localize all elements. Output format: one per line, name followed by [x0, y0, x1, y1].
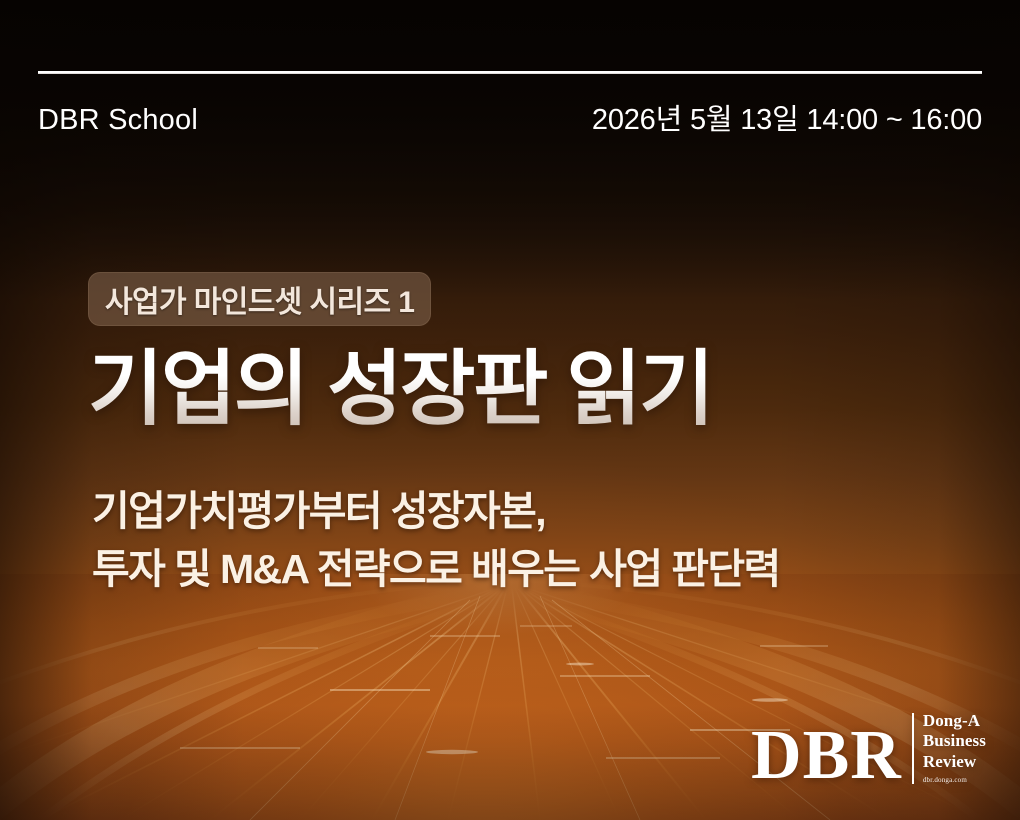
page-subtitle: 기업가치평가부터 성장자본, 투자 및 M&A 전략으로 배우는 사업 판단력	[92, 482, 780, 598]
header: DBR School 2026년 5월 13일 14:00 ~ 16:00	[38, 96, 982, 138]
dbr-logo: DBR Dong-A Business Review dbr.donga.com	[751, 711, 986, 786]
dbr-logo-line-2: Business	[923, 731, 986, 752]
poster-content: DBR School 2026년 5월 13일 14:00 ~ 16:00 사업…	[0, 0, 1020, 820]
page-subtitle-line-2: 투자 및 M&A 전략으로 배우는 사업 판단력	[92, 540, 780, 598]
dbr-logo-line-1: Dong-A	[923, 711, 986, 732]
dbr-logo-wordmark: DBR	[751, 711, 912, 786]
header-divider-rule	[38, 71, 982, 74]
page-title: 기업의 성장판 읽기	[88, 344, 712, 436]
schedule-label: 2026년 5월 13일 14:00 ~ 16:00	[592, 96, 982, 138]
brand-label: DBR School	[38, 104, 198, 137]
series-badge: 사업가 마인드셋 시리즈 1	[88, 272, 431, 326]
dbr-logo-divider	[912, 713, 914, 784]
promo-poster: DBR School 2026년 5월 13일 14:00 ~ 16:00 사업…	[0, 0, 1020, 820]
dbr-logo-tagline: Dong-A Business Review dbr.donga.com	[923, 711, 986, 786]
page-subtitle-line-1: 기업가치평가부터 성장자본,	[92, 482, 780, 540]
series-badge-label: 사업가 마인드셋 시리즈 1	[105, 277, 414, 321]
dbr-logo-url: dbr.donga.com	[923, 775, 986, 786]
dbr-logo-line-3: Review	[923, 752, 986, 773]
